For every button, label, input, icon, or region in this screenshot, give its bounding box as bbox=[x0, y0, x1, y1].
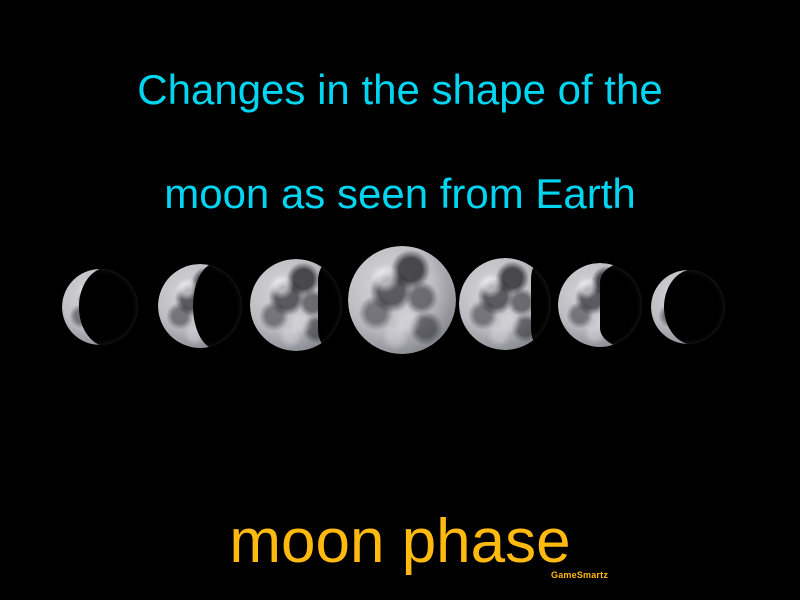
moon-phase-sequence-image bbox=[0, 230, 800, 380]
moon-phase-3 bbox=[250, 259, 342, 351]
gamesmartz-watermark: GameSmartz bbox=[551, 570, 608, 580]
moon-phase-2 bbox=[158, 264, 242, 348]
definition-line-2: moon as seen from Earth bbox=[0, 168, 800, 220]
moon-terminator-shadow bbox=[193, 264, 242, 348]
definition-line-1: Changes in the shape of the bbox=[0, 64, 800, 116]
moon-terminator-shadow bbox=[664, 270, 725, 344]
moon-phase-7 bbox=[651, 270, 725, 344]
definition-card: Changes in the shape of the moon as seen… bbox=[0, 0, 800, 600]
moon-phase-5 bbox=[459, 258, 551, 350]
moon-phase-4 bbox=[348, 246, 456, 354]
moon-terminator-shadow bbox=[318, 259, 342, 351]
moon-phase-1 bbox=[62, 269, 138, 345]
term-label: moon phase bbox=[0, 505, 800, 579]
moon-phase-6 bbox=[558, 263, 642, 347]
moon-terminator-shadow bbox=[79, 269, 138, 345]
moon-disc bbox=[348, 246, 456, 354]
moon-terminator-shadow bbox=[531, 258, 551, 350]
moon-terminator-shadow bbox=[600, 263, 642, 347]
